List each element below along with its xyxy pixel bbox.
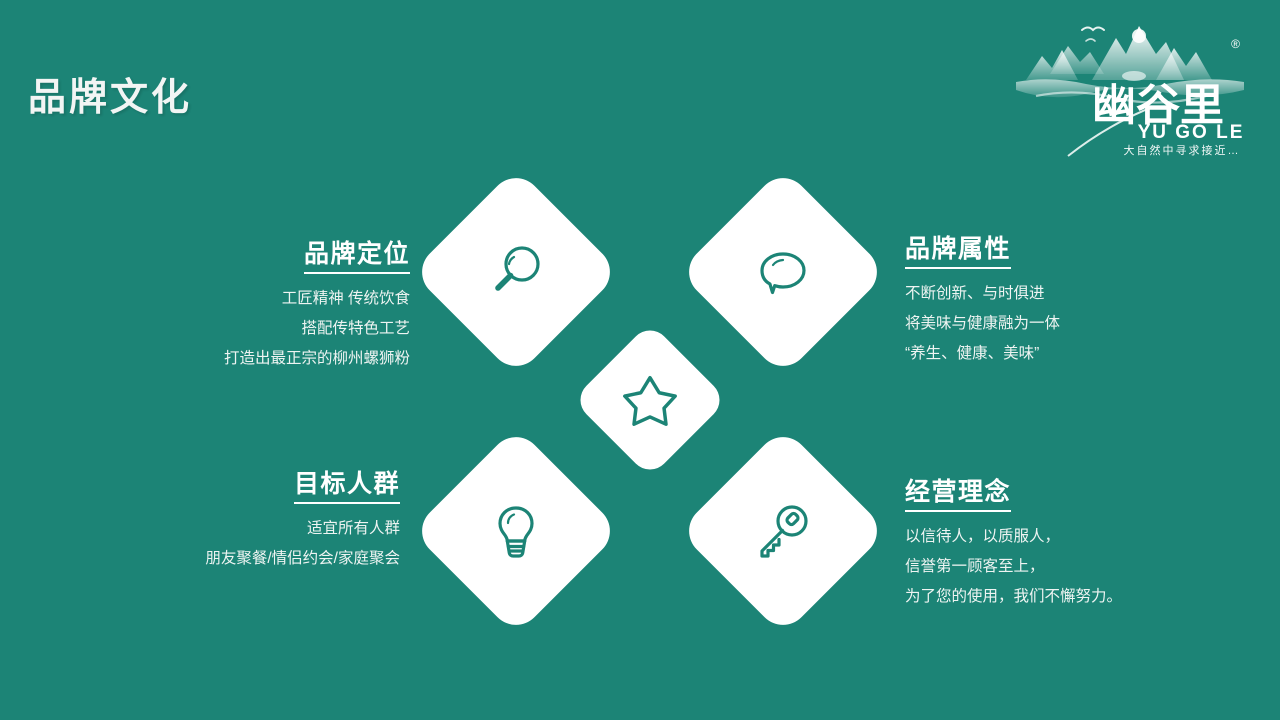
logo-brand-en: YU GO LE <box>1138 122 1245 143</box>
brand-logo: 幽谷里 YU GO LE 大自然中寻求接近… ® <box>1006 8 1256 160</box>
diamond-card-brand-position[interactable] <box>411 167 620 376</box>
body-line: 朋友聚餐/情侣约会/家庭聚会 <box>0 544 400 574</box>
key-icon <box>751 499 815 563</box>
text-block-business-philosophy: 经营理念 以信待人，以质服人， 信誉第一顾客至上， 为了您的使用，我们不懈努力。 <box>905 478 1122 612</box>
text-block-target-group: 目标人群 适宜所有人群 朋友聚餐/情侣约会/家庭聚会 <box>0 470 400 574</box>
heading-brand-position: 品牌定位 <box>304 240 410 274</box>
text-block-brand-position: 品牌定位 工匠精神 传统饮食 搭配传特色工艺 打造出最正宗的柳州螺狮粉 <box>0 240 410 374</box>
slide-canvas: 品牌文化 <box>0 0 1280 720</box>
diamond-card-center[interactable] <box>572 322 728 478</box>
body-line: 工匠精神 传统饮食 <box>0 284 410 314</box>
page-title: 品牌文化 <box>28 66 192 121</box>
logo-tagline: 大自然中寻求接近… <box>1124 143 1241 157</box>
body-line: 信誉第一顾客至上， <box>905 552 1122 582</box>
star-icon <box>619 369 681 431</box>
body-line: 不断创新、与时俱进 <box>905 279 1060 309</box>
body-line: 将美味与健康融为一体 <box>905 309 1060 339</box>
body-line: 适宜所有人群 <box>0 514 400 544</box>
body-line: 搭配传特色工艺 <box>0 314 410 344</box>
body-line: “养生、健康、美味” <box>905 339 1060 369</box>
body-line: 以信待人，以质服人， <box>905 522 1122 552</box>
heading-target-group: 目标人群 <box>294 470 400 504</box>
diamond-card-target-group[interactable] <box>411 426 620 635</box>
body-line: 为了您的使用，我们不懈努力。 <box>905 582 1122 612</box>
body-line: 打造出最正宗的柳州螺狮粉 <box>0 344 410 374</box>
lightbulb-icon <box>484 499 548 563</box>
heading-brand-attribute: 品牌属性 <box>905 235 1011 269</box>
text-block-brand-attribute: 品牌属性 不断创新、与时俱进 将美味与健康融为一体 “养生、健康、美味” <box>905 235 1060 369</box>
search-icon <box>484 240 548 304</box>
diamond-card-brand-attribute[interactable] <box>678 167 887 376</box>
speech-bubble-icon <box>751 240 815 304</box>
diamond-card-business-philosophy[interactable] <box>678 426 887 635</box>
registered-trademark-icon: ® <box>1231 38 1240 50</box>
heading-business-philosophy: 经营理念 <box>905 478 1011 512</box>
